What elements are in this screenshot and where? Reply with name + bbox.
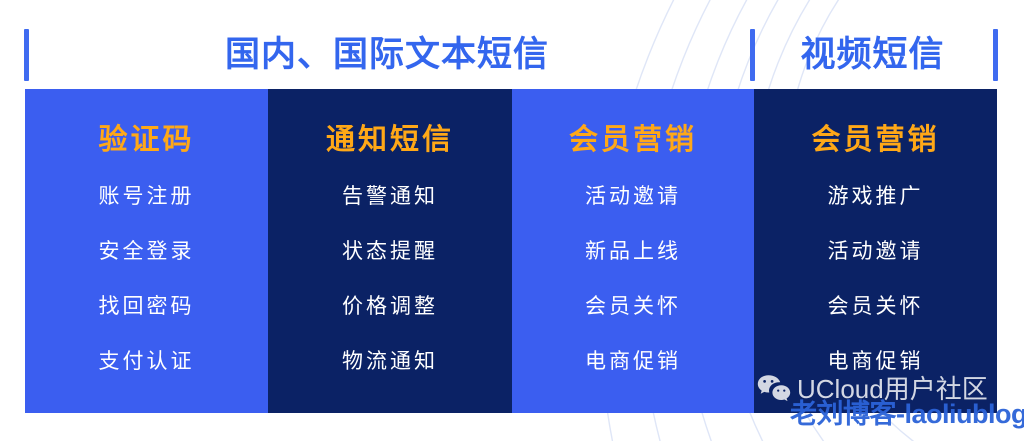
column-item[interactable]: 支付认证 [99,348,195,376]
column-title: 验证码 [98,123,194,157]
column-title: 通知短信 [326,123,454,157]
header-title-video-sms: 视频短信 [752,28,993,82]
header-divider-right [993,29,998,81]
column-item[interactable]: 会员关怀 [585,293,681,321]
column-item-list: 活动邀请 新品上线 会员关怀 电商促销 [512,183,754,376]
column-item[interactable]: 安全登录 [99,238,195,266]
column-item-list: 告警通知 状态提醒 价格调整 物流通知 [268,183,512,376]
column-notification-sms[interactable]: 通知短信 告警通知 状态提醒 价格调整 物流通知 [268,89,512,413]
column-item[interactable]: 状态提醒 [342,238,438,266]
column-item[interactable]: 会员关怀 [828,293,924,321]
header: 国内、国际文本短信 视频短信 [0,0,1024,89]
column-item[interactable]: 告警通知 [342,183,438,211]
column-item[interactable]: 活动邀请 [828,238,924,266]
column-member-marketing-video[interactable]: 会员营销 游戏推广 活动邀请 会员关怀 电商促销 [754,89,997,413]
column-item-list: 账号注册 安全登录 找回密码 支付认证 [25,183,268,376]
column-title: 会员营销 [811,123,939,157]
column-item[interactable]: 电商促销 [585,348,681,376]
column-item[interactable]: 新品上线 [585,238,681,266]
column-item[interactable]: 活动邀请 [585,183,681,211]
column-verification-code[interactable]: 验证码 账号注册 安全登录 找回密码 支付认证 [25,89,268,413]
slide-canvas: 国内、国际文本短信 视频短信 验证码 账号注册 安全登录 找回密码 支付认证 通… [0,0,1024,441]
column-title: 会员营销 [569,123,697,157]
category-columns: 验证码 账号注册 安全登录 找回密码 支付认证 通知短信 告警通知 状态提醒 价… [25,89,997,413]
column-item[interactable]: 电商促销 [828,348,924,376]
column-item[interactable]: 找回密码 [99,293,195,321]
column-member-marketing-text[interactable]: 会员营销 活动邀请 新品上线 会员关怀 电商促销 [512,89,754,413]
column-item[interactable]: 价格调整 [342,293,438,321]
column-item[interactable]: 账号注册 [99,183,195,211]
column-item[interactable]: 游戏推广 [828,183,924,211]
column-item[interactable]: 物流通知 [342,348,438,376]
header-title-text-sms: 国内、国际文本短信 [24,28,750,82]
column-item-list: 游戏推广 活动邀请 会员关怀 电商促销 [754,183,997,376]
